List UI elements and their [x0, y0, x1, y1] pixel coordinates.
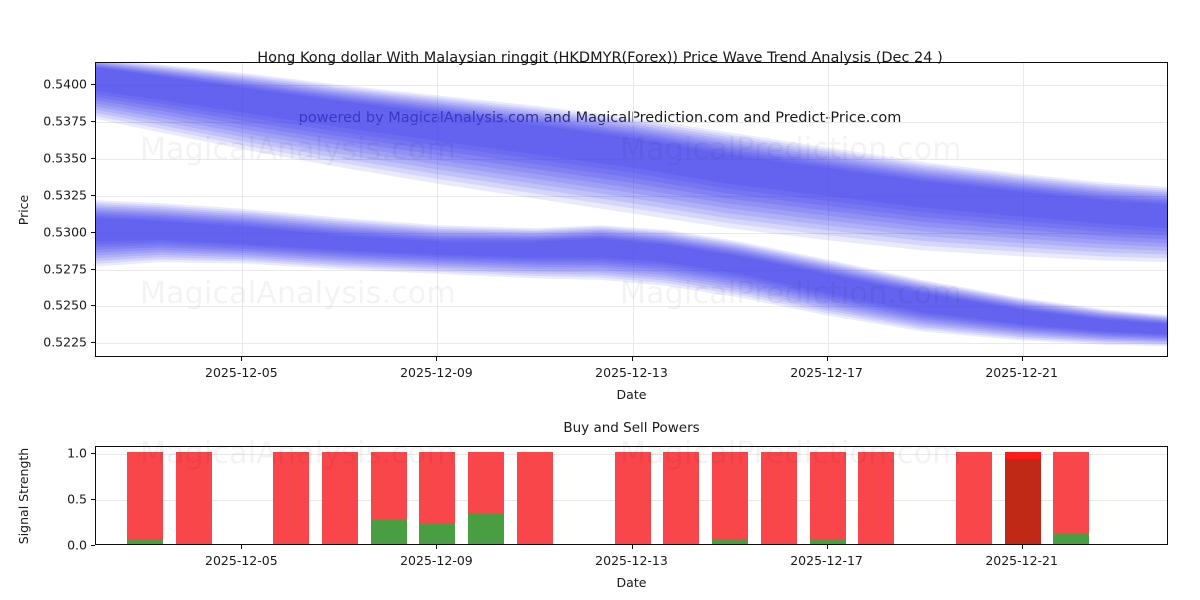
signal-bar[interactable] [176, 452, 212, 544]
buy-sell-powers-plot [95, 446, 1168, 545]
price-ytick-mark [91, 121, 95, 122]
price-ytick-label: 0.5325 [0, 187, 87, 202]
bars-xtick-mark [632, 545, 633, 549]
price-ytick-mark [91, 269, 95, 270]
bars-ytick-label: 1.0 [0, 446, 87, 461]
price-xtick-mark [827, 357, 828, 361]
price-xtick-mark [241, 357, 242, 361]
bars-xtick-mark [1022, 545, 1023, 549]
bars-ytick-mark [91, 545, 95, 546]
price-ytick-label: 0.5350 [0, 150, 87, 165]
buy-sell-powers-title: Buy and Sell Powers [563, 420, 699, 436]
price-wave-plot [95, 62, 1168, 357]
sell-power-highlight-cap [1005, 452, 1041, 459]
bars-xtick-label: 2025-12-13 [595, 553, 668, 568]
sell-power-segment [1053, 452, 1089, 544]
price-xaxis-label: Date [617, 387, 647, 402]
buy-power-segment [810, 539, 846, 544]
price-xtick-label: 2025-12-05 [205, 365, 278, 380]
price-xtick-label: 2025-12-09 [400, 365, 473, 380]
price-ytick-label: 0.5250 [0, 298, 87, 313]
sell-power-segment [956, 452, 992, 544]
buy-power-segment [712, 539, 748, 544]
sell-power-segment [810, 452, 846, 544]
signal-bar[interactable] [956, 452, 992, 544]
price-ytick-label: 0.5375 [0, 114, 87, 129]
bars-ytick-mark [91, 499, 95, 500]
sell-power-segment [712, 452, 748, 544]
price-ytick-mark [91, 158, 95, 159]
signal-bar[interactable] [1053, 452, 1089, 544]
signal-bar[interactable] [371, 452, 407, 544]
signal-bar[interactable] [468, 452, 504, 544]
signal-bar[interactable] [517, 452, 553, 544]
signal-bar[interactable] [419, 452, 455, 544]
bars-xtick-label: 2025-12-09 [400, 553, 473, 568]
price-xtick-mark [1022, 357, 1023, 361]
sell-power-segment [1005, 452, 1041, 544]
bars-ytick-mark [91, 453, 95, 454]
sell-power-segment [127, 452, 163, 544]
price-xtick-label: 2025-12-21 [985, 365, 1058, 380]
bars-ytick-label: 0.0 [0, 538, 87, 553]
bars-ytick-label: 0.5 [0, 492, 87, 507]
sell-power-segment [322, 452, 358, 544]
buy-power-segment [1053, 534, 1089, 544]
buy-power-segment [419, 524, 455, 544]
signal-bar[interactable] [712, 452, 748, 544]
sell-power-segment [858, 452, 894, 544]
price-ytick-mark [91, 305, 95, 306]
sell-power-segment [663, 452, 699, 544]
signal-bar[interactable] [810, 452, 846, 544]
bars-xtick-label: 2025-12-05 [205, 553, 278, 568]
price-ytick-mark [91, 84, 95, 85]
buy-power-segment [468, 514, 504, 544]
signal-bar[interactable] [858, 452, 894, 544]
signal-bar[interactable] [127, 452, 163, 544]
bars-xtick-mark [436, 545, 437, 549]
signal-bar[interactable] [615, 452, 651, 544]
price-wave-bands [96, 63, 1168, 357]
buy-power-segment [371, 519, 407, 544]
price-xtick-mark [632, 357, 633, 361]
price-ytick-mark [91, 342, 95, 343]
price-ytick-mark [91, 195, 95, 196]
price-ytick-label: 0.5300 [0, 224, 87, 239]
price-xtick-label: 2025-12-13 [595, 365, 668, 380]
price-yaxis-label: Price [16, 194, 31, 225]
sell-power-segment [761, 452, 797, 544]
sell-power-segment [615, 452, 651, 544]
bars-xtick-mark [241, 545, 242, 549]
price-ytick-label: 0.5400 [0, 77, 87, 92]
bars-xtick-mark [827, 545, 828, 549]
price-ytick-mark [91, 232, 95, 233]
price-ytick-label: 0.5275 [0, 261, 87, 276]
price-ytick-label: 0.5225 [0, 335, 87, 350]
sell-power-segment [517, 452, 553, 544]
price-xtick-label: 2025-12-17 [790, 365, 863, 380]
bars-yaxis-label: Signal Strength [16, 447, 31, 543]
price-xtick-mark [436, 357, 437, 361]
signal-bar[interactable] [1005, 452, 1041, 544]
signal-bar[interactable] [322, 452, 358, 544]
chart-page: Hong Kong dollar With Malaysian ringgit … [0, 0, 1200, 600]
signal-bar[interactable] [761, 452, 797, 544]
signal-bar[interactable] [273, 452, 309, 544]
bars-xtick-label: 2025-12-17 [790, 553, 863, 568]
sell-power-segment [273, 452, 309, 544]
bars-xaxis-label: Date [617, 575, 647, 590]
sell-power-segment [176, 452, 212, 544]
signal-bar[interactable] [663, 452, 699, 544]
buy-power-segment [127, 539, 163, 544]
bars-xtick-label: 2025-12-21 [985, 553, 1058, 568]
